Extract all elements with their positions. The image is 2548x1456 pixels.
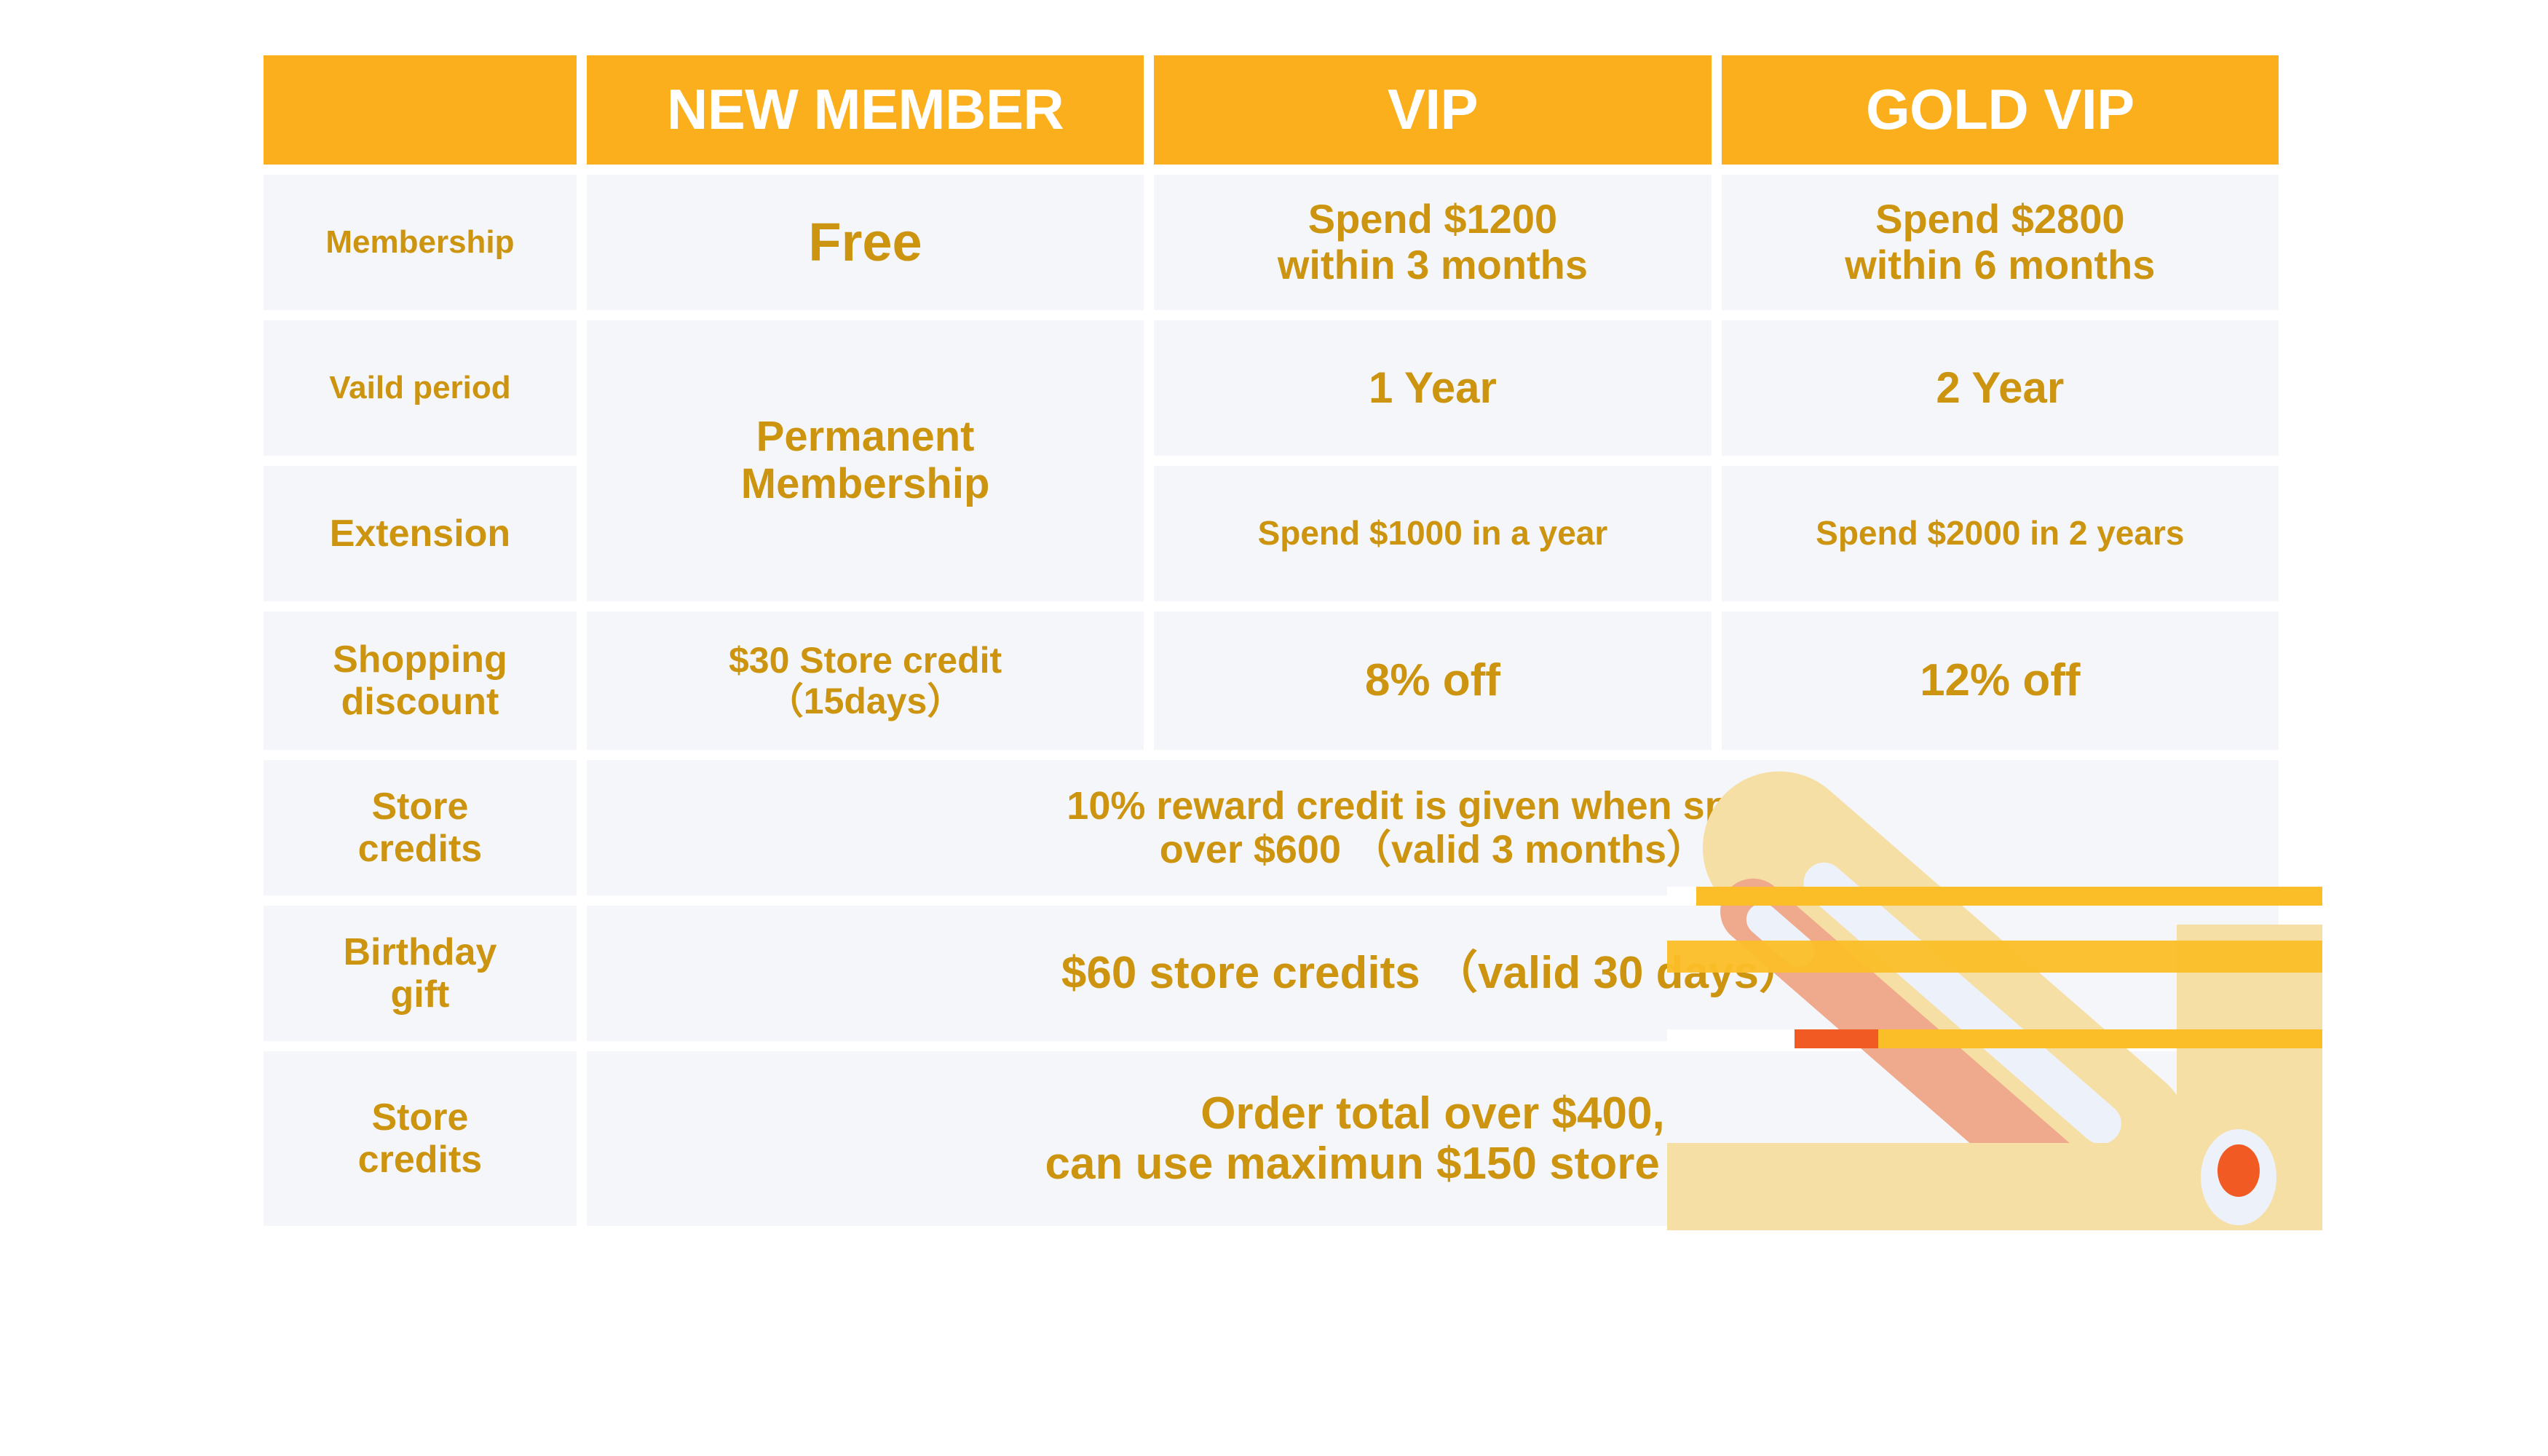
cell-permanent-membership: Permanent Membership (587, 320, 1144, 601)
cell-shopping-discount-new-member-line1: $30 Store credit (594, 640, 1136, 681)
row-label-membership: Membership (264, 175, 577, 310)
row-label-shopping-discount-line2: discount (271, 681, 569, 723)
cell-shopping-discount-new-member: $30 Store credit （15days） (587, 612, 1144, 750)
cell-shopping-discount-gold-vip: 12% off (1722, 612, 2279, 750)
cell-permanent-membership-line1: Permanent (594, 414, 1136, 461)
cell-store-credits-usage-merged: Order total over $400, can use maximun $… (587, 1051, 2279, 1226)
cell-membership-new-member: Free (587, 175, 1144, 310)
table-row-shopping-discount: Shopping discount $30 Store credit （15da… (264, 612, 2279, 750)
cell-birthday-gift-merged: $60 store credits （valid 30 days） (587, 906, 2279, 1041)
table-body: Membership Free Spend $1200 within 3 mon… (264, 175, 2279, 1226)
header-cell-gold-vip: GOLD VIP (1722, 55, 2279, 165)
header-cell-new-member: NEW MEMBER (587, 55, 1144, 165)
table-row-membership: Membership Free Spend $1200 within 3 mon… (264, 175, 2279, 310)
row-label-valid-period: Vaild period (264, 320, 577, 456)
row-label-shopping-discount-line1: Shopping (271, 638, 569, 681)
cell-extension-vip: Spend $1000 in a year (1154, 466, 1711, 601)
cell-membership-vip-line2: within 3 months (1161, 242, 1704, 288)
row-label-birthday-gift-line1: Birthday (271, 931, 569, 973)
header-row: NEW MEMBER VIP GOLD VIP (264, 55, 2279, 165)
cell-store-credits-reward-merged: 10% reward credit is given when spend ov… (587, 760, 2279, 895)
cell-permanent-membership-line2: Membership (594, 461, 1136, 508)
row-label-store-credits-usage-line1: Store (271, 1096, 569, 1139)
header-cell-vip: VIP (1154, 55, 1711, 165)
membership-comparison-table: NEW MEMBER VIP GOLD VIP Membership Free … (253, 45, 2289, 1236)
cell-store-credits-reward-line2: over $600 （valid 3 months） (594, 828, 2271, 871)
header-cell-blank (264, 55, 577, 165)
row-label-store-credits-reward-line2: credits (271, 828, 569, 870)
row-label-shopping-discount: Shopping discount (264, 612, 577, 750)
row-label-birthday-gift-line2: gift (271, 973, 569, 1016)
cell-store-credits-usage-line2: can use maximun $150 store credits (594, 1139, 2271, 1189)
cell-membership-gold-vip: Spend $2800 within 6 months (1722, 175, 2279, 310)
cell-shopping-discount-new-member-line2: （15days） (594, 681, 1136, 721)
cell-membership-gold-line2: within 6 months (1729, 242, 2271, 288)
cell-membership-vip-line1: Spend $1200 (1161, 197, 1704, 242)
row-label-store-credits-usage: Store credits (264, 1051, 577, 1226)
row-label-store-credits-usage-line2: credits (271, 1139, 569, 1181)
cell-membership-gold-line1: Spend $2800 (1729, 197, 2271, 242)
cell-valid-period-vip: 1 Year (1154, 320, 1711, 456)
table-row-store-credits-reward: Store credits 10% reward credit is given… (264, 760, 2279, 895)
table-row-extension: Extension Spend $1000 in a year Spend $2… (264, 466, 2279, 601)
cell-extension-gold-vip: Spend $2000 in 2 years (1722, 466, 2279, 601)
table-row-valid-period: Vaild period Permanent Membership 1 Year… (264, 320, 2279, 456)
cell-shopping-discount-vip: 8% off (1154, 612, 1711, 750)
membership-tier-infographic: NEW MEMBER VIP GOLD VIP Membership Free … (0, 0, 2548, 1456)
cell-membership-vip: Spend $1200 within 3 months (1154, 175, 1711, 310)
table-row-store-credits-usage: Store credits Order total over $400, can… (264, 1051, 2279, 1226)
cell-store-credits-usage-line1: Order total over $400, (594, 1088, 2271, 1139)
cell-store-credits-reward-line1: 10% reward credit is given when spend (594, 784, 2271, 828)
table-row-birthday-gift: Birthday gift $60 store credits （valid 3… (264, 906, 2279, 1041)
row-label-store-credits-reward: Store credits (264, 760, 577, 895)
row-label-birthday-gift: Birthday gift (264, 906, 577, 1041)
cell-valid-period-gold-vip: 2 Year (1722, 320, 2279, 456)
row-label-store-credits-reward-line1: Store (271, 786, 569, 828)
table-header: NEW MEMBER VIP GOLD VIP (264, 55, 2279, 165)
row-label-extension: Extension (264, 466, 577, 601)
